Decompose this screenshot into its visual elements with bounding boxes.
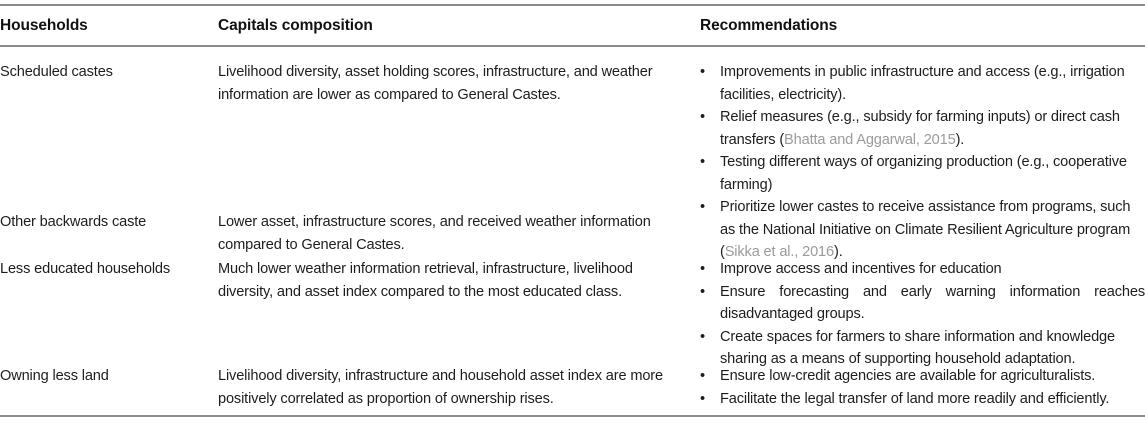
table-row: Scheduled castes [0, 61, 228, 84]
recommendation-text: Testing different ways of organizing pro… [720, 154, 1127, 193]
table-row: Less educated households [0, 258, 228, 281]
list-item: Improve access and incentives for educat… [700, 258, 1145, 281]
recommendation-group: Improvements in public infrastructure an… [700, 61, 1145, 264]
recommendation-list: Ensure low-credit agencies are available… [700, 365, 1145, 410]
recommendation-text: Create spaces for farmers to share infor… [720, 329, 1115, 368]
capitals-cell: Lower asset, infrastructure scores, and … [218, 211, 710, 256]
recommendation-group: Improve access and incentives for educat… [700, 258, 1145, 371]
household-label: Owning less land [0, 368, 109, 384]
household-label: Less educated households [0, 261, 170, 277]
table-bottom-rule [0, 415, 1145, 417]
table-header-row: Households Capitals composition Recommen… [0, 6, 1145, 45]
list-item: Prioritize lower castes to receive assis… [700, 196, 1145, 264]
capitals-cell: Livelihood diversity, asset holding scor… [218, 61, 710, 106]
capitals-cell: Livelihood diversity, infrastructure and… [218, 365, 710, 410]
recommendation-text-tail: ). [956, 132, 965, 148]
recommendation-list: Improvements in public infrastructure an… [700, 61, 1145, 264]
list-item: Improvements in public infrastructure an… [700, 61, 1145, 106]
capitals-text: Lower asset, infrastructure scores, and … [218, 214, 651, 253]
list-item: Relief measures (e.g., subsidy for farmi… [700, 106, 1145, 151]
recommendation-text: Ensure low-credit agencies are available… [720, 368, 1095, 384]
citation: Bhatta and Aggarwal, 2015 [784, 132, 956, 148]
recommendation-text: Improve access and incentives for educat… [720, 261, 1002, 277]
capitals-recommendations-table: Households Capitals composition Recommen… [0, 4, 1145, 430]
household-label: Scheduled castes [0, 64, 113, 80]
capitals-text: Livelihood diversity, infrastructure and… [218, 368, 663, 407]
recommendation-text: Facilitate the legal transfer of land mo… [720, 391, 1109, 407]
capitals-text: Livelihood diversity, asset holding scor… [218, 64, 652, 103]
list-item: Ensure low-credit agencies are available… [700, 365, 1145, 388]
household-label: Other backwards caste [0, 214, 146, 230]
list-item: Create spaces for farmers to share infor… [700, 326, 1145, 371]
list-item: Testing different ways of organizing pro… [700, 151, 1145, 196]
column-header-households: Households [0, 6, 218, 45]
capitals-cell: Much lower weather information retrieval… [218, 258, 710, 303]
recommendation-group: Ensure low-credit agencies are available… [700, 365, 1145, 410]
list-item: Facilitate the legal transfer of land mo… [700, 388, 1145, 411]
recommendation-text: Improvements in public infrastructure an… [720, 64, 1125, 103]
capitals-text: Much lower weather information retrieval… [218, 261, 633, 300]
column-header-capitals-composition: Capitals composition [218, 6, 700, 45]
table-row: Other backwards caste [0, 211, 228, 234]
column-header-recommendations: Recommendations [700, 6, 1145, 45]
table-row: Owning less land [0, 365, 228, 388]
recommendation-list: Improve access and incentives for educat… [700, 258, 1145, 371]
table-body: Scheduled castes Livelihood diversity, a… [0, 47, 1145, 61]
list-item: Ensure forecasting and early warning inf… [700, 281, 1145, 326]
recommendation-text: Ensure forecasting and early warning inf… [720, 284, 1145, 323]
